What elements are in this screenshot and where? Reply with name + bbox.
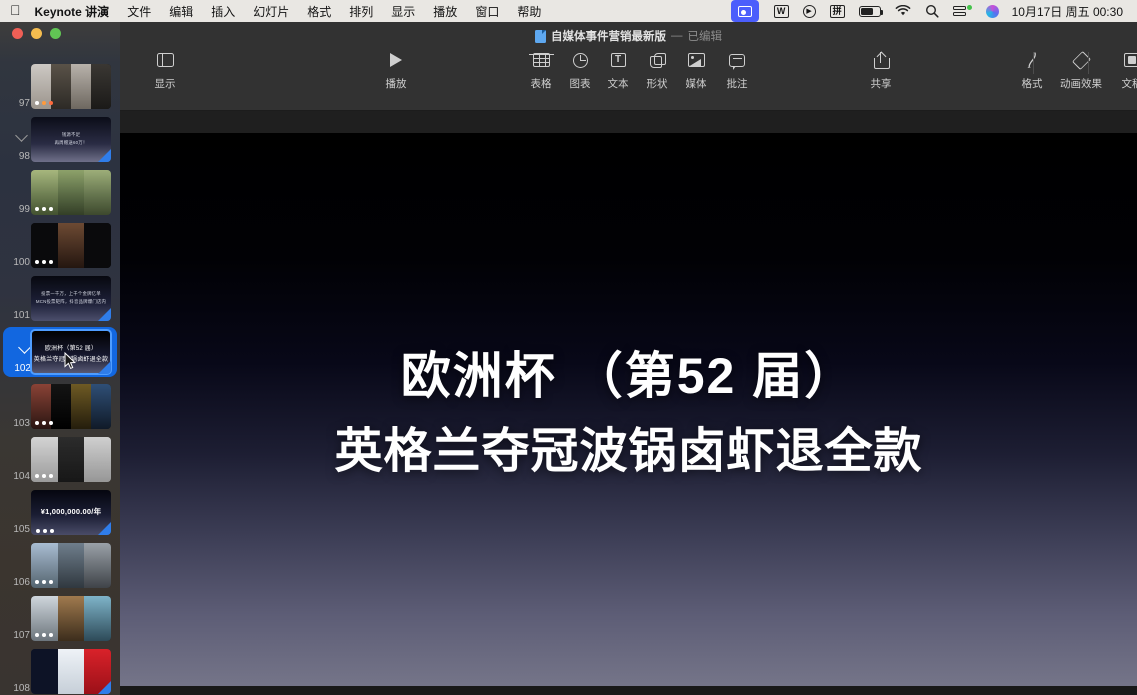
menu-window[interactable]: 窗口 [466, 3, 508, 20]
slide-number: 102 [9, 363, 31, 374]
menubar-status-area: W ▶ 拼 [731, 0, 1131, 22]
menubar-app-name[interactable]: Keynote 讲演 [35, 3, 119, 20]
app-toolbar: 自媒体事件营销最新版 — 已编辑 显示 播放 表格 [120, 22, 1137, 111]
menubar-clock[interactable]: 10月17日 周五 00:30 [1006, 3, 1131, 20]
sidebar-icon [157, 50, 174, 70]
play-circle-icon[interactable]: ▶ [796, 0, 823, 22]
slide-thumbnail[interactable] [31, 437, 111, 482]
slide-number: 105 [8, 524, 30, 535]
slide-thumbnail[interactable]: 投票一千万，上千个金牌亿单MCN投票矩阵，抖音品牌爆门店内 [31, 276, 111, 321]
list-item[interactable]: 105 ¥1,000,000.00/年 [0, 488, 120, 536]
play-icon [390, 50, 402, 70]
slide-number: 104 [8, 471, 30, 482]
thumbnail-dots [36, 529, 54, 533]
list-item[interactable]: 104 [0, 435, 120, 483]
slide-thumbnail[interactable] [31, 223, 111, 268]
thumbnail-dots [35, 421, 53, 425]
slide-thumbnail[interactable] [31, 384, 111, 429]
window-title-bar: 自媒体事件营销最新版 — 已编辑 [120, 28, 1137, 44]
current-slide[interactable]: 欧洲杯 （第52 届） 英格兰夺冠波锅卤虾退全款 [120, 133, 1137, 695]
document-icon [535, 30, 546, 43]
slide-thumbnail[interactable] [31, 649, 111, 694]
thumbnail-dots [35, 207, 53, 211]
toolbar-comment-label: 批注 [727, 76, 748, 91]
toolbar-media-label: 媒体 [686, 76, 707, 91]
siri-icon[interactable] [979, 0, 1006, 22]
menu-arrange[interactable]: 排列 [340, 3, 382, 20]
chart-icon [573, 50, 588, 70]
list-item[interactable]: 103 [0, 382, 120, 430]
list-item[interactable]: 108 [0, 647, 120, 695]
battery-charging-icon[interactable] [852, 0, 888, 22]
slide-number: 98 [8, 151, 30, 162]
list-item[interactable]: 100 [0, 221, 120, 269]
control-center-icon[interactable] [946, 0, 979, 22]
apple-logo-icon[interactable]:  [10, 3, 21, 17]
list-item[interactable]: 106 [0, 541, 120, 589]
toolbar-format-label: 格式 [1022, 76, 1043, 91]
toolbar-view-label: 显示 [155, 76, 176, 91]
toolbar-table-label: 表格 [531, 76, 552, 91]
thumbnail-caption: ¥1,000,000.00/年 [31, 505, 111, 519]
close-button[interactable] [12, 28, 23, 39]
slide-number: 101 [8, 310, 30, 321]
wifi-glyph [895, 5, 911, 17]
thumbnail-corner-marker [98, 681, 111, 694]
thumbnail-caption: 投票一千万，上千个金牌亿单MCN投票矩阵，抖音品牌爆门店内 [31, 290, 111, 307]
slide-number: 106 [8, 577, 30, 588]
list-item[interactable]: 99 [0, 168, 120, 216]
input-method-icon[interactable]: 拼 [823, 0, 852, 22]
toolbar-document-button[interactable]: 文稿 [1105, 50, 1137, 91]
toolbar-play-label: 播放 [386, 76, 407, 91]
list-item[interactable]: 98 钱源不足再周赠送60万！ [0, 115, 120, 163]
slide-navigator[interactable]: 97 98 钱 [0, 22, 120, 695]
share-icon [874, 50, 888, 70]
recording-indicator-dot [967, 5, 972, 10]
thumbnail-corner-marker [98, 308, 111, 321]
list-item[interactable]: 97 [0, 62, 120, 110]
slide-thumbnail[interactable]: 钱源不足再周赠送60万！ [31, 117, 111, 162]
slide-thumbnail[interactable] [31, 64, 111, 109]
shape-icon [650, 50, 665, 70]
toolbar-text-label: 文本 [608, 76, 629, 91]
minimize-button[interactable] [31, 28, 42, 39]
slide-text-block[interactable]: 欧洲杯 （第52 届） 英格兰夺冠波锅卤虾退全款 [120, 345, 1137, 484]
slide-number: 99 [8, 204, 30, 215]
thumbnail-corner-marker [98, 522, 111, 535]
toolbar-document-label: 文稿 [1122, 76, 1137, 91]
menu-format[interactable]: 格式 [298, 3, 340, 20]
slide-title-line-1: 欧洲杯 （第52 届） [120, 345, 1137, 408]
keynote-window:  Keynote 讲演 文件 编辑 插入 幻灯片 格式 排列 显示 播放 窗口… [0, 0, 1137, 695]
list-item[interactable]: 101 投票一千万，上千个金牌亿单MCN投票矩阵，抖音品牌爆门店内 [0, 274, 120, 322]
toolbar-play-button[interactable]: 播放 [369, 50, 423, 91]
toolbar-divider [1033, 52, 1034, 74]
chevron-down-icon[interactable] [18, 341, 31, 354]
toolbar-view-button[interactable]: 显示 [138, 50, 192, 91]
slide-number: 100 [8, 257, 30, 268]
toolbar-shape-label: 形状 [647, 76, 668, 91]
canvas-top-margin [120, 111, 1137, 133]
slide-thumbnail[interactable] [31, 170, 111, 215]
document-window: 97 98 钱 [0, 22, 1137, 695]
toolbar-share-button[interactable]: 共享 [854, 50, 908, 91]
slide-thumbnail-list: 97 98 钱 [0, 62, 120, 695]
chevron-down-icon[interactable] [15, 129, 28, 142]
thumbnail-dots [35, 474, 53, 478]
toolbar-chart-label: 图表 [570, 76, 591, 91]
menu-view[interactable]: 显示 [382, 3, 424, 20]
slide-thumbnail[interactable] [31, 543, 111, 588]
thumbnail-dots [35, 580, 53, 584]
slide-title-line-2: 英格兰夺冠波锅卤虾退全款 [120, 420, 1137, 485]
toolbar-animate-button[interactable]: 动画效果 [1050, 50, 1112, 91]
thumbnail-corner-marker [98, 361, 111, 374]
edited-status: 已编辑 [688, 28, 723, 44]
slide-number: 103 [8, 418, 30, 429]
text-icon: T [611, 50, 626, 70]
search-icon[interactable] [918, 0, 946, 22]
slide-number: 108 [8, 683, 30, 694]
menu-edit[interactable]: 编辑 [160, 3, 202, 20]
input-method-glyph: 拼 [830, 5, 845, 18]
thumbnail-caption: 钱源不足再周赠送60万！ [31, 131, 111, 148]
slide-number: 107 [8, 630, 30, 641]
toolbar-share-label: 共享 [871, 76, 892, 91]
title-separator: — [671, 30, 683, 42]
menu-help[interactable]: 帮助 [508, 3, 550, 20]
slide-thumbnail[interactable] [31, 596, 111, 641]
list-item-selected[interactable]: 102 欧洲杯（第52 届）英格兰夺冠波锅卤虾退全款 [3, 327, 117, 377]
media-icon [688, 50, 705, 70]
slide-number: 97 [8, 98, 30, 109]
brush-icon [1025, 50, 1040, 70]
window-controls [12, 28, 61, 39]
list-item[interactable]: 107 [0, 594, 120, 642]
toolbar-buttons: 显示 播放 表格 图表 T 文本 [120, 50, 1137, 106]
search-glyph [925, 4, 939, 18]
menu-insert[interactable]: 插入 [202, 3, 244, 20]
mouse-cursor [64, 352, 76, 370]
wps-icon[interactable]: W [767, 0, 796, 22]
comment-icon [729, 50, 745, 70]
thumbnail-dots [35, 101, 53, 105]
wps-glyph: W [774, 5, 789, 18]
thumbnail-dots [35, 633, 53, 637]
toolbar-comment-button[interactable]: 批注 [710, 50, 764, 91]
zoom-button[interactable] [50, 28, 61, 39]
animate-icon [1074, 50, 1089, 70]
slide-canvas-area[interactable]: 欧洲杯 （第52 届） 英格兰夺冠波锅卤虾退全款 [120, 111, 1137, 695]
canvas-bottom-margin [120, 686, 1137, 695]
document-title: 自媒体事件营销最新版 [551, 28, 666, 44]
screen-share-icon[interactable] [731, 0, 759, 22]
table-icon [533, 50, 550, 70]
menu-play[interactable]: 播放 [424, 3, 466, 20]
toolbar-divider [1088, 52, 1089, 74]
document-pane-icon [1124, 50, 1137, 70]
wifi-icon[interactable] [888, 0, 918, 22]
thumbnail-corner-marker [98, 149, 111, 162]
macos-menubar:  Keynote 讲演 文件 编辑 插入 幻灯片 格式 排列 显示 播放 窗口… [0, 0, 1137, 22]
menu-file[interactable]: 文件 [118, 3, 160, 20]
menu-slide[interactable]: 幻灯片 [244, 3, 298, 20]
thumbnail-dots [35, 260, 53, 264]
toolbar-animate-label: 动画效果 [1060, 76, 1102, 91]
